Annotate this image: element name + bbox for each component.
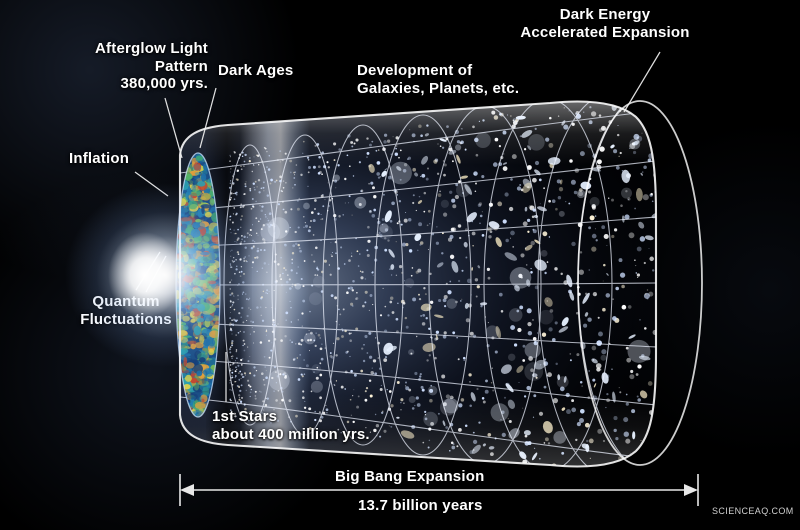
- leader-quantum-a: [136, 252, 160, 290]
- leader-dark-ages: [200, 88, 216, 148]
- label-big-bang-expansion: Big Bang Expansion: [335, 468, 484, 486]
- leader-quantum-b: [146, 256, 166, 292]
- label-duration: 13.7 billion years: [358, 497, 483, 515]
- label-development-of-galaxies: Development of Galaxies, Planets, etc.: [357, 62, 519, 97]
- leader-inflation: [135, 172, 168, 196]
- label-inflation: Inflation: [69, 150, 129, 168]
- leader-dark-energy: [624, 52, 660, 112]
- watermark: SCIENCEAQ.COM: [712, 506, 794, 517]
- label-dark-ages: Dark Ages: [218, 62, 293, 80]
- label-quantum-fluctuations: Quantum Fluctuations: [66, 293, 186, 328]
- leader-afterglow: [165, 98, 182, 158]
- cosmic-timeline-figure: Afterglow Light Pattern 380,000 yrs. Dar…: [0, 0, 800, 530]
- label-afterglow-light-pattern: Afterglow Light Pattern 380,000 yrs.: [58, 40, 208, 93]
- label-dark-energy: Dark Energy Accelerated Expansion: [505, 6, 705, 41]
- label-first-stars: 1st Stars about 400 million yrs.: [212, 408, 370, 443]
